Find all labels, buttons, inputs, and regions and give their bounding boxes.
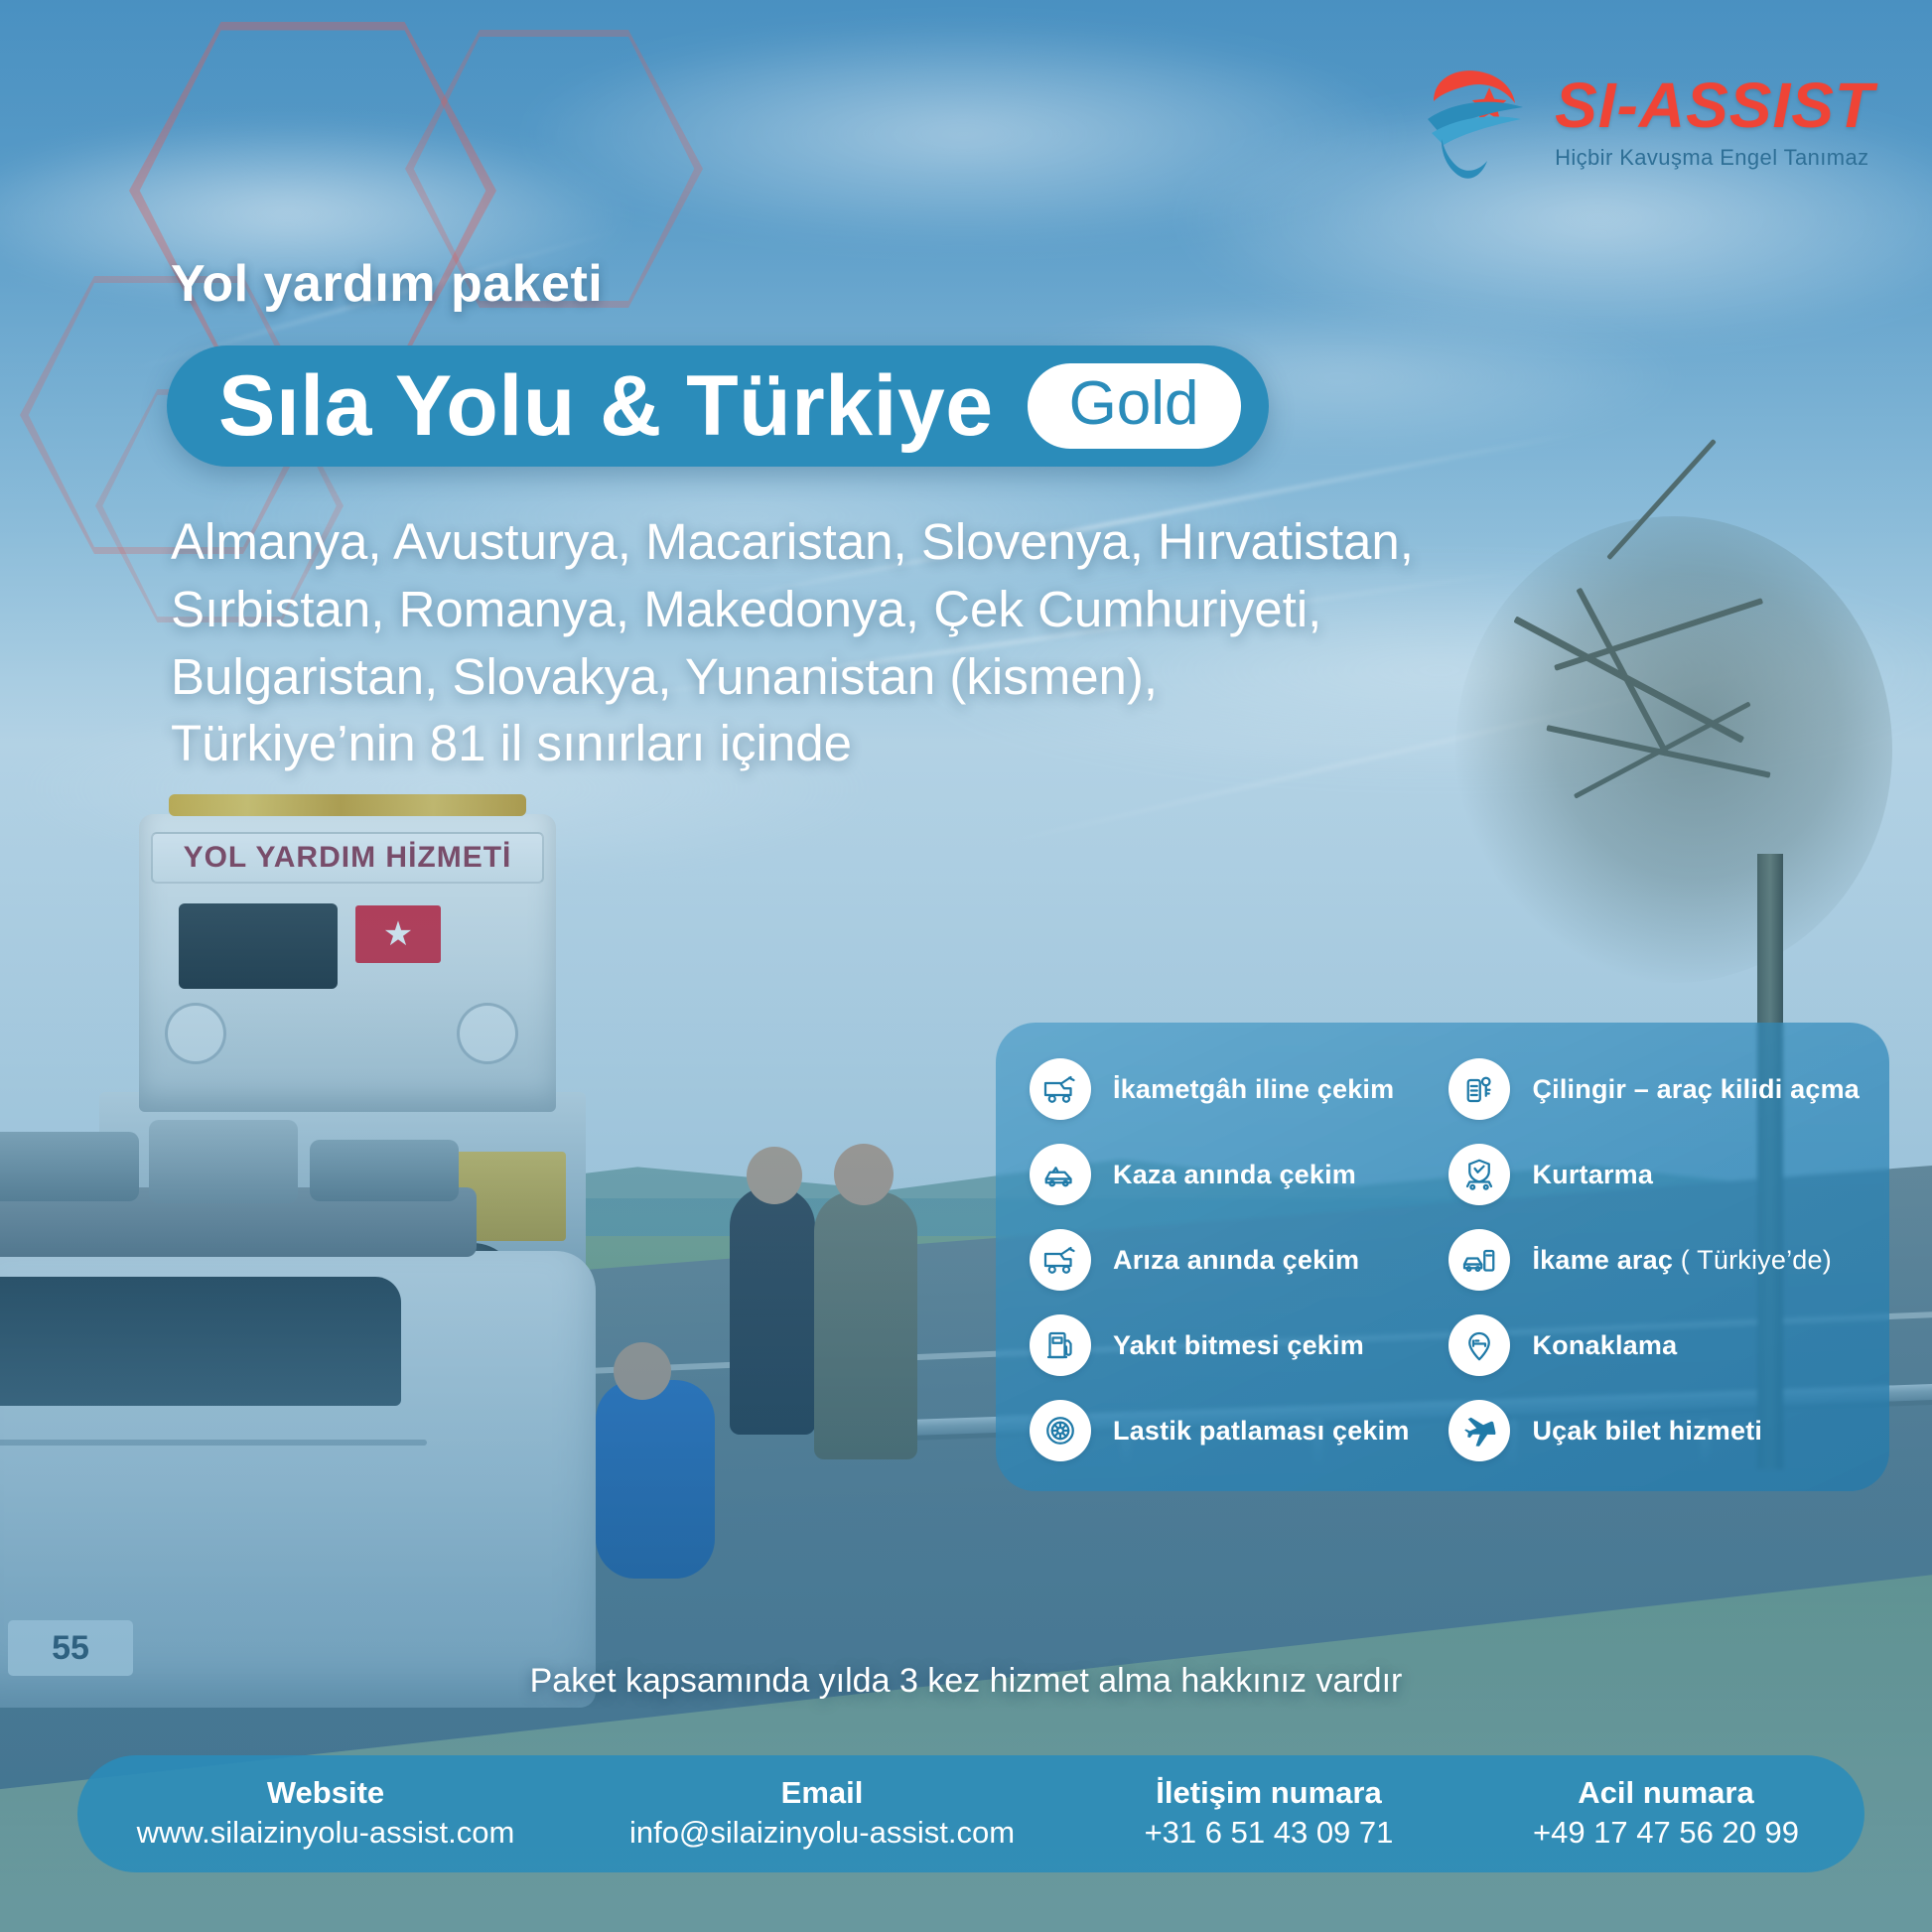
footer-website[interactable]: Website www.silaizinyolu-assist.com xyxy=(77,1775,574,1853)
logo-tagline: Hiçbir Kavuşma Engel Tanımaz xyxy=(1555,145,1868,171)
services-panel: İkametgâh iline çekim Kaza anında çekim xyxy=(996,1023,1889,1491)
coverage-line: Almanya, Avusturya, Macaristan, Slovenya… xyxy=(171,508,1451,576)
service-item[interactable]: Konaklama xyxy=(1449,1314,1860,1376)
page-title: Sıla Yolu & Türkiye xyxy=(218,363,994,449)
service-label: İkametgâh iline çekim xyxy=(1113,1074,1394,1105)
footer-contact-value[interactable]: +31 6 51 43 09 71 xyxy=(1080,1814,1457,1853)
service-label: Çilingir – araç kilidi açma xyxy=(1532,1074,1860,1105)
title-banner: Sıla Yolu & Türkiye Gold xyxy=(167,345,1269,467)
footer-email-value[interactable]: info@silaizinyolu-assist.com xyxy=(584,1814,1060,1853)
tier-badge: Gold xyxy=(1028,363,1241,449)
service-label: Uçak bilet hizmeti xyxy=(1532,1416,1762,1447)
service-label-main: Konaklama xyxy=(1532,1330,1677,1360)
service-label: Arıza anında çekim xyxy=(1113,1245,1359,1276)
service-label: Kurtarma xyxy=(1532,1160,1653,1190)
footer-website-label: Website xyxy=(87,1775,564,1811)
fuel-pump-icon xyxy=(1030,1314,1091,1376)
service-item[interactable]: Arıza anında çekim xyxy=(1030,1229,1431,1291)
airplane-icon xyxy=(1449,1400,1510,1461)
service-label-main: İkame araç xyxy=(1532,1245,1673,1275)
coverage-list: Almanya, Avusturya, Macaristan, Slovenya… xyxy=(171,508,1451,777)
service-item[interactable]: İkametgâh iline çekim xyxy=(1030,1058,1431,1120)
service-label: Konaklama xyxy=(1532,1330,1677,1361)
services-column-left: İkametgâh iline çekim Kaza anında çekim xyxy=(1030,1058,1431,1461)
coverage-line: Sırbistan, Romanya, Makedonya, Çek Cumhu… xyxy=(171,576,1451,643)
shield-car-icon xyxy=(1449,1144,1510,1205)
key-locksmith-icon xyxy=(1449,1058,1510,1120)
services-column-right: Çilingir – araç kilidi açma Kurtarma xyxy=(1449,1058,1860,1461)
footer-email-label: Email xyxy=(584,1775,1060,1811)
service-label-main: Uçak bilet hizmeti xyxy=(1532,1416,1762,1446)
service-item[interactable]: Lastik patlaması çekim xyxy=(1030,1400,1431,1461)
service-item[interactable]: Yakıt bitmesi çekim xyxy=(1030,1314,1431,1376)
service-label: Yakıt bitmesi çekim xyxy=(1113,1330,1364,1361)
bed-pin-icon xyxy=(1449,1314,1510,1376)
footer-emergency-value[interactable]: +49 17 47 56 20 99 xyxy=(1477,1814,1855,1853)
logo-wordmark: SI-ASSIST xyxy=(1555,73,1874,137)
coverage-line: Türkiye’nin 81 il sınırları içinde xyxy=(171,710,1451,777)
footer-emergency[interactable]: Acil numara +49 17 47 56 20 99 xyxy=(1467,1775,1864,1853)
poster-root: YOL YARDIM HİZMETİ ★ 55 xyxy=(0,0,1932,1932)
footer-contact-label: İletişim numara xyxy=(1080,1775,1457,1811)
car-crash-icon xyxy=(1030,1144,1091,1205)
logo-text-group: SI-ASSIST Hiçbir Kavuşma Engel Tanımaz xyxy=(1555,73,1874,171)
service-label-main: Çilingir – araç kilidi açma xyxy=(1532,1074,1860,1104)
footer-email[interactable]: Email info@silaizinyolu-assist.com xyxy=(574,1775,1070,1853)
service-label: Kaza anında çekim xyxy=(1113,1160,1356,1190)
eyebrow-text: Yol yardım paketi xyxy=(171,254,603,314)
footer-contact[interactable]: İletişim numara +31 6 51 43 09 71 xyxy=(1070,1775,1467,1853)
contact-footer: Website www.silaizinyolu-assist.com Emai… xyxy=(77,1755,1864,1872)
service-item[interactable]: Kaza anında çekim xyxy=(1030,1144,1431,1205)
si-assist-mark-icon xyxy=(1418,62,1535,183)
tire-icon xyxy=(1030,1400,1091,1461)
service-label: İkame araç ( Türkiye’de) xyxy=(1532,1245,1831,1276)
package-disclaimer: Paket kapsamında yılda 3 kez hizmet alma… xyxy=(0,1662,1932,1701)
service-item[interactable]: Çilingir – araç kilidi açma xyxy=(1449,1058,1860,1120)
brand-logo[interactable]: SI-ASSIST Hiçbir Kavuşma Engel Tanımaz xyxy=(1418,62,1874,183)
footer-emergency-label: Acil numara xyxy=(1477,1775,1855,1811)
service-label-main: Kurtarma xyxy=(1532,1160,1653,1189)
service-item[interactable]: Uçak bilet hizmeti xyxy=(1449,1400,1860,1461)
tow-truck-icon xyxy=(1030,1058,1091,1120)
service-label: Lastik patlaması çekim xyxy=(1113,1416,1410,1447)
coverage-line: Bulgaristan, Slovakya, Yunanistan (kisme… xyxy=(171,643,1451,711)
service-item[interactable]: Kurtarma xyxy=(1449,1144,1860,1205)
rental-car-icon xyxy=(1449,1229,1510,1291)
footer-website-value[interactable]: www.silaizinyolu-assist.com xyxy=(87,1814,564,1853)
tow-truck-icon xyxy=(1030,1229,1091,1291)
service-label-note: ( Türkiye’de) xyxy=(1673,1245,1832,1275)
service-item[interactable]: İkame araç ( Türkiye’de) xyxy=(1449,1229,1860,1291)
